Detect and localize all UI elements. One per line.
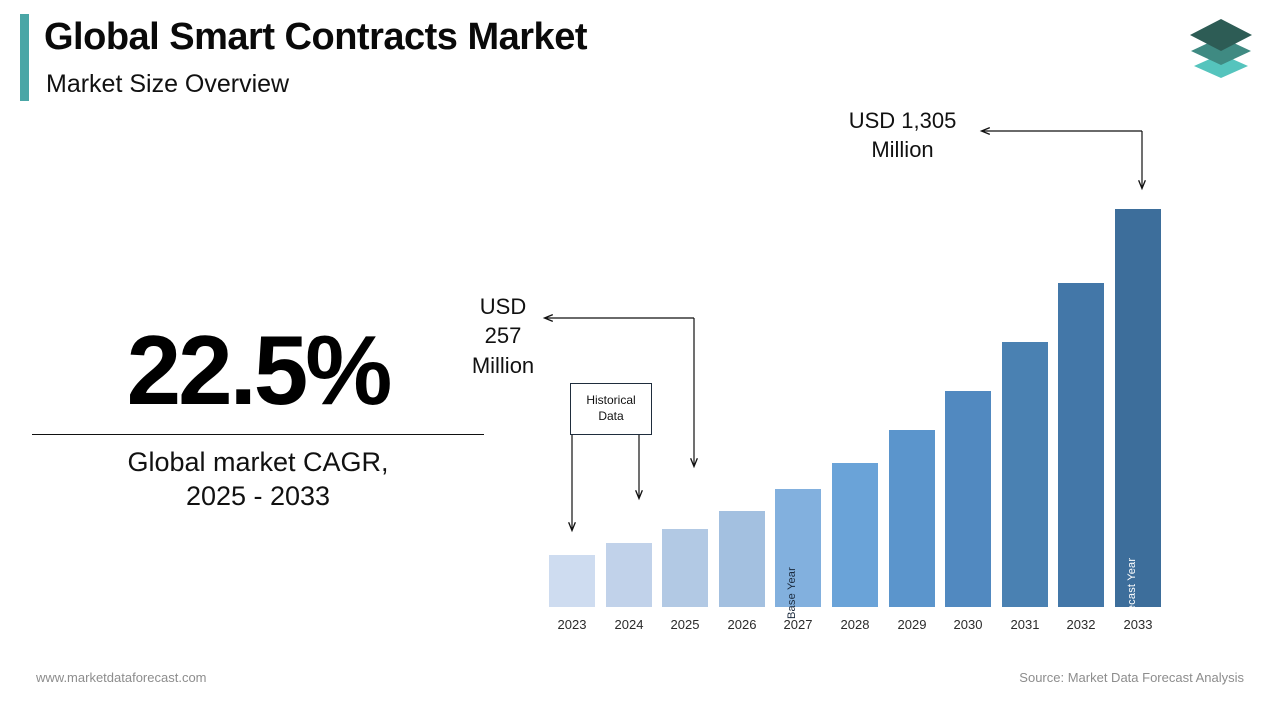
stacked-diamonds-logo: [1186, 16, 1256, 82]
footer-website: www.marketdataforecast.com: [36, 670, 207, 685]
page-title: Global Smart Contracts Market: [44, 16, 587, 59]
x-axis-tick-2031: 2031: [995, 617, 1055, 632]
callout-connector-2025: [545, 318, 694, 466]
bar-2024[interactable]: [606, 543, 652, 607]
bar-2029[interactable]: [889, 430, 935, 607]
historical-data-box: Historical Data: [570, 383, 652, 435]
callout-label-2033-line-2: Million: [820, 135, 985, 164]
x-axis-tick-2023: 2023: [542, 617, 602, 632]
cagr-caption: Global market CAGR, 2025 - 2033: [32, 446, 484, 514]
callout-label-2025-line-1: USD: [448, 292, 558, 321]
forecast-year-label: Forecast Year: [1126, 558, 1138, 628]
cagr-caption-line-2: 2025 - 2033: [32, 480, 484, 514]
bar-2026[interactable]: [719, 511, 765, 607]
x-axis-tick-2032: 2032: [1051, 617, 1111, 632]
footer-source: Source: Market Data Forecast Analysis: [1019, 670, 1244, 685]
x-axis-tick-2030: 2030: [938, 617, 998, 632]
x-axis-tick-2033: 2033: [1108, 617, 1168, 632]
bar-2032[interactable]: [1058, 283, 1104, 607]
logo-diamond-top: [1190, 19, 1252, 51]
bar-2030[interactable]: [945, 391, 991, 607]
historical-data-label: Historical Data: [586, 393, 635, 424]
bar-2027[interactable]: Base Year: [775, 489, 821, 607]
cagr-caption-line-1: Global market CAGR,: [32, 446, 484, 480]
bar-2025[interactable]: [662, 529, 708, 607]
x-axis-tick-2029: 2029: [882, 617, 942, 632]
bar-2033[interactable]: Forecast Year: [1115, 209, 1161, 607]
historical-data-line-1: Historical: [586, 393, 635, 409]
page-subtitle: Market Size Overview: [46, 70, 289, 99]
cagr-block: 22.5% Global market CAGR, 2025 - 2033: [32, 322, 484, 514]
cagr-value: 22.5%: [32, 322, 484, 418]
callout-connector-2033: [982, 131, 1142, 188]
cagr-divider: [32, 434, 484, 435]
bar-2031[interactable]: [1002, 342, 1048, 607]
base-year-label: Base Year: [786, 567, 798, 619]
historical-data-line-2: Data: [586, 409, 635, 425]
header: Global Smart Contracts Market Market Siz…: [0, 0, 1280, 115]
bar-2023[interactable]: [549, 555, 595, 607]
x-axis-tick-2027: 2027: [768, 617, 828, 632]
x-axis-tick-2024: 2024: [599, 617, 659, 632]
accent-bar: [20, 14, 29, 101]
x-axis-tick-2028: 2028: [825, 617, 885, 632]
bar-2028[interactable]: [832, 463, 878, 607]
x-axis-tick-2026: 2026: [712, 617, 772, 632]
x-axis-tick-2025: 2025: [655, 617, 715, 632]
